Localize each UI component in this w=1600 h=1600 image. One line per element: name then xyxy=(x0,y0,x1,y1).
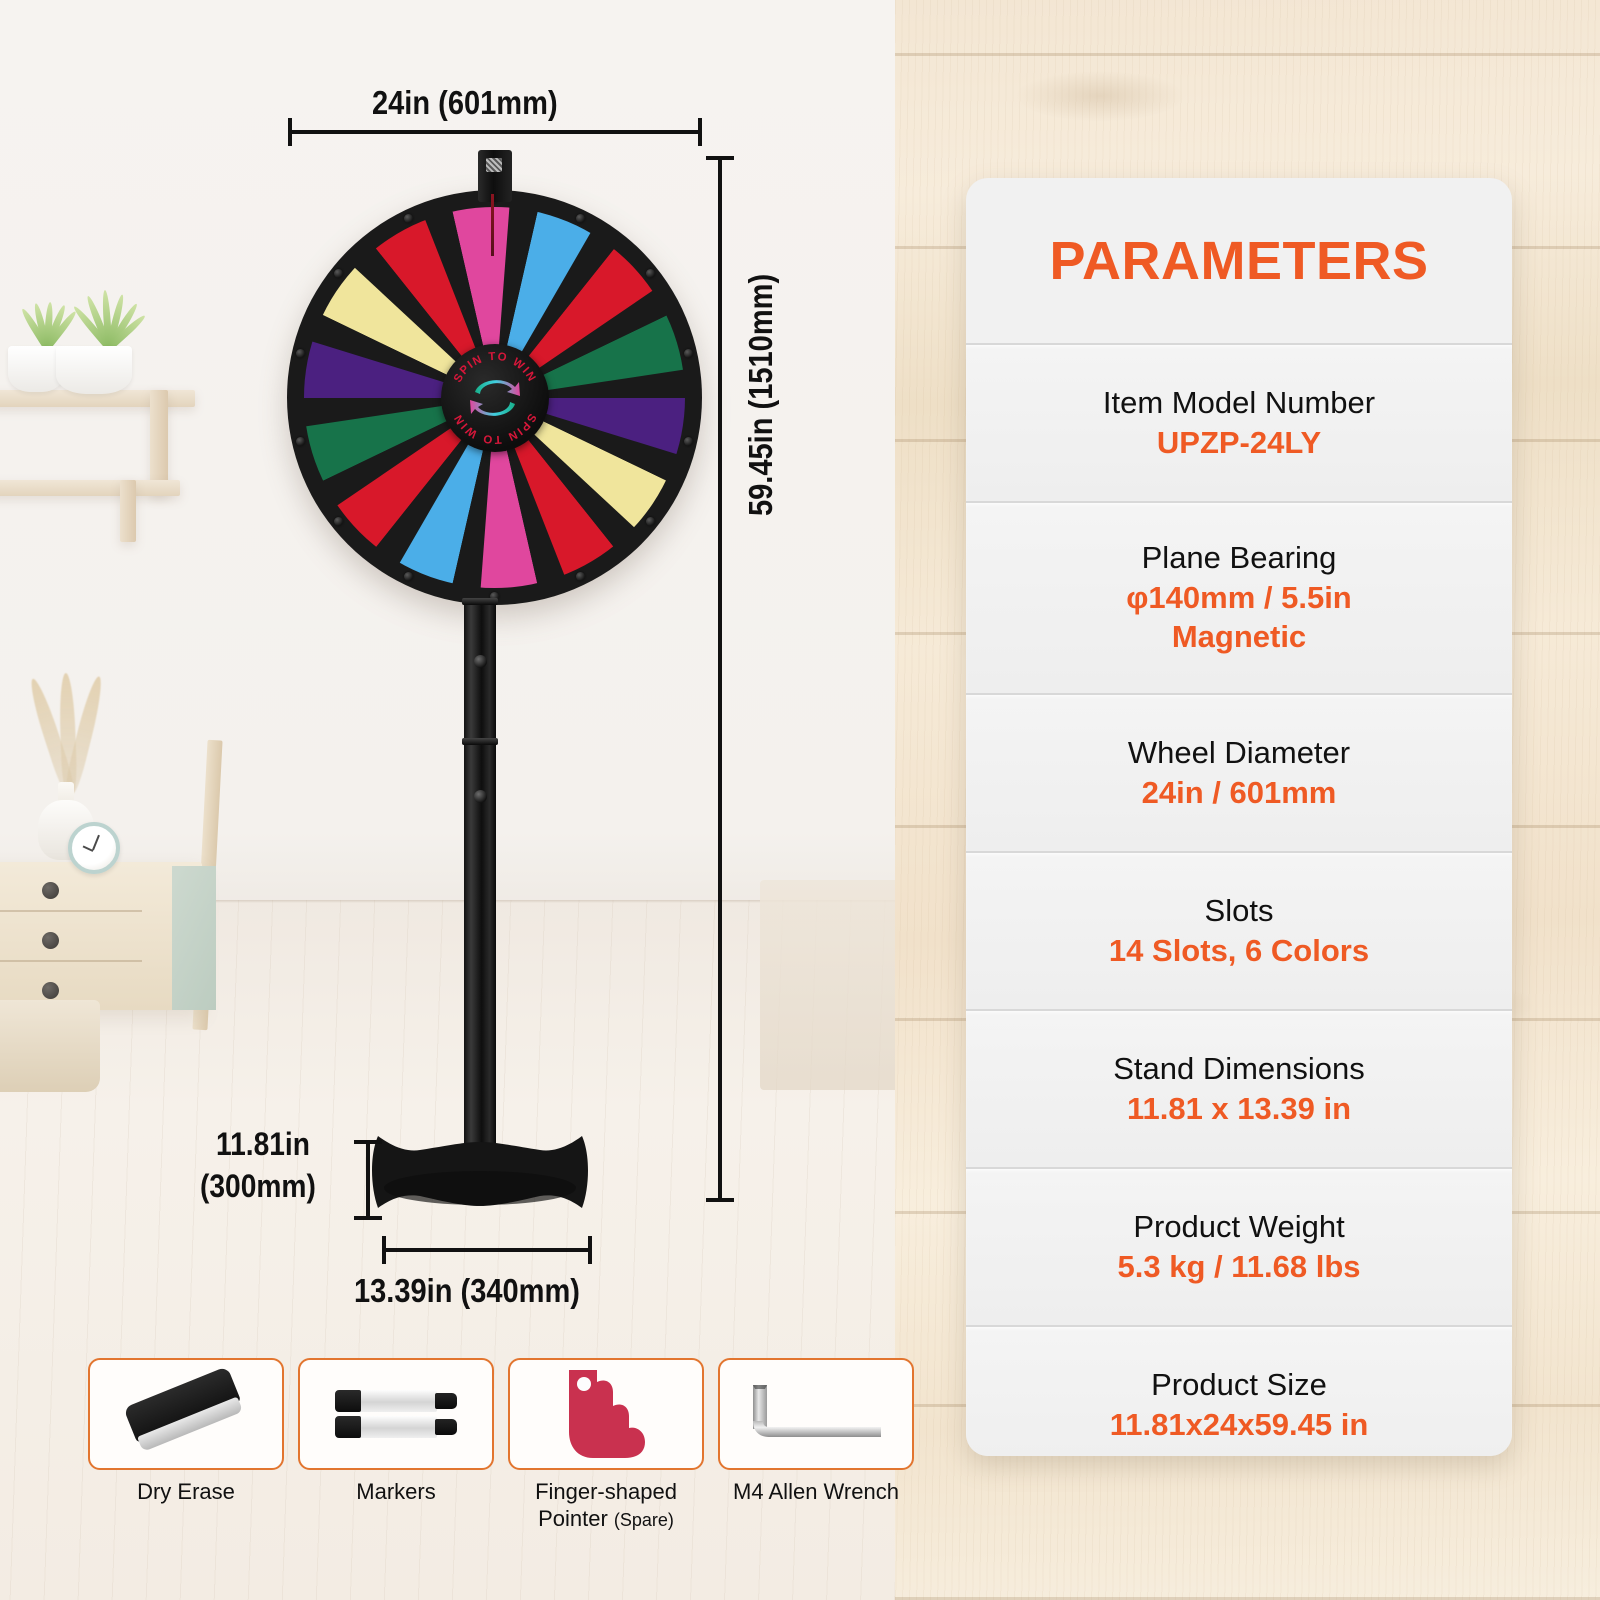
woven-basket xyxy=(0,1000,100,1092)
dimension-label-base-depth-mm: (300mm) xyxy=(200,1168,316,1205)
accessory-image-box xyxy=(508,1358,704,1470)
dimension-line-base-depth xyxy=(366,1142,370,1220)
hub-text-top: SPIN TO WIN xyxy=(451,350,537,384)
accessory-label: M4 Allen Wrench xyxy=(718,1479,914,1506)
pointer-screw-icon xyxy=(486,158,502,172)
param-row-wheel-diameter: Wheel Diameter 24in / 601mm xyxy=(966,693,1512,851)
svg-text:SPIN TO WIN: SPIN TO WIN xyxy=(451,411,537,445)
dimension-line-total-height xyxy=(718,158,722,1201)
plant-pot-right xyxy=(56,346,132,394)
pole-joint xyxy=(462,738,498,745)
param-value: 24in / 601mm xyxy=(1142,773,1337,813)
param-row-slots: Slots 14 Slots, 6 Colors xyxy=(966,851,1512,1009)
dimension-label-wheel-width: 24in (601mm) xyxy=(372,84,558,122)
dimension-cap-top xyxy=(354,1140,382,1144)
param-value: 14 Slots, 6 Colors xyxy=(1109,931,1369,971)
wheel-hub: SPIN TO WIN SPIN TO WIN xyxy=(441,344,549,452)
param-value: 11.81x24x59.45 in xyxy=(1110,1405,1369,1445)
pole-joint xyxy=(462,598,498,605)
allen-wrench-icon xyxy=(745,1377,887,1451)
rim-screw-icon xyxy=(684,349,693,358)
rim-screw-icon xyxy=(404,214,413,223)
spin-arrows-icon xyxy=(470,380,520,416)
rim-screw-icon xyxy=(646,269,655,278)
dimension-label-total-height: 59.45in (1510mm) xyxy=(742,274,780,516)
param-row-product-weight: Product Weight 5.3 kg / 11.68 lbs xyxy=(966,1167,1512,1325)
svg-text:SPIN TO WIN: SPIN TO WIN xyxy=(451,350,537,384)
dimension-cap-right xyxy=(588,1236,592,1264)
right-furniture xyxy=(760,880,895,1090)
wall-shelf-lower xyxy=(0,480,180,496)
dimension-line-base-width xyxy=(384,1248,592,1252)
accessory-label-line1: Finger-shaped xyxy=(535,1479,677,1504)
param-label: Plane Bearing xyxy=(1142,539,1337,578)
dimension-line-wheel-width xyxy=(290,130,702,134)
param-label: Product Weight xyxy=(1133,1208,1344,1247)
accessory-dry-erase: Dry Erase xyxy=(88,1358,284,1538)
dimension-label-base-width: 13.39in (340mm) xyxy=(354,1272,580,1310)
param-value: UPZP-24LY xyxy=(1157,423,1321,463)
accessory-label: Finger-shaped Pointer (Spare) xyxy=(508,1479,704,1533)
dimension-cap-bottom xyxy=(354,1216,382,1220)
accessory-label-suffix: (Spare) xyxy=(614,1510,674,1530)
dimension-cap-bottom xyxy=(706,1198,734,1202)
param-value: 5.3 kg / 11.68 lbs xyxy=(1118,1247,1361,1287)
plant-leaves-left xyxy=(24,300,70,348)
dimension-cap-right xyxy=(698,118,702,146)
param-value: φ140mm / 5.5in xyxy=(1126,578,1352,618)
rim-screw-icon xyxy=(404,572,413,581)
accessory-label: Markers xyxy=(298,1479,494,1506)
param-label: Product Size xyxy=(1151,1366,1327,1405)
param-value: 11.81 x 13.39 in xyxy=(1127,1089,1351,1129)
pole-adjust-knob xyxy=(474,655,487,668)
pampas-grass xyxy=(55,668,85,793)
accessory-markers: Markers xyxy=(298,1358,494,1538)
accessory-label-line2: Pointer xyxy=(538,1506,608,1531)
wheel-base-stand xyxy=(368,1128,592,1220)
panel-title: PARAMETERS xyxy=(966,178,1512,343)
rim-screw-icon xyxy=(646,517,655,526)
accessory-image-box xyxy=(298,1358,494,1470)
accessory-allen-wrench: M4 Allen Wrench xyxy=(718,1358,914,1538)
finger-pointer-icon xyxy=(563,1366,649,1462)
pole-adjust-knob xyxy=(474,790,487,803)
param-label: Slots xyxy=(1205,892,1274,931)
accessory-finger-pointer: Finger-shaped Pointer (Spare) xyxy=(508,1358,704,1538)
accessory-image-box xyxy=(718,1358,914,1470)
param-value-secondary: Magnetic xyxy=(1172,617,1306,657)
dimension-cap-left xyxy=(382,1236,386,1264)
eraser-icon xyxy=(123,1366,249,1462)
dimension-cap-top xyxy=(706,156,734,160)
hub-text-bottom: SPIN TO WIN xyxy=(451,411,537,445)
param-label: Wheel Diameter xyxy=(1128,734,1350,773)
telescoping-pole xyxy=(464,600,496,1160)
param-label: Item Model Number xyxy=(1103,384,1375,423)
dimension-cap-left xyxy=(288,118,292,146)
param-row-product-size: Product Size 11.81x24x59.45 in xyxy=(966,1325,1512,1456)
drawer-knob xyxy=(42,932,59,949)
wall-shelf-lower-bracket xyxy=(120,480,136,542)
rim-screw-icon xyxy=(296,349,305,358)
param-row-stand-dimensions: Stand Dimensions 11.81 x 13.39 in xyxy=(966,1009,1512,1167)
param-label: Stand Dimensions xyxy=(1113,1050,1365,1089)
plant-leaves-right xyxy=(78,292,140,348)
table-clock xyxy=(68,822,120,874)
drawer-knob xyxy=(42,882,59,899)
dimension-label-base-depth-in: 11.81in xyxy=(216,1126,310,1163)
markers-icon xyxy=(335,1386,457,1442)
prize-wheel: SPIN TO WIN SPIN TO WIN xyxy=(287,190,702,605)
dresser-side-panel xyxy=(172,866,216,1010)
drawer-knob xyxy=(42,982,59,999)
parameters-panel: PARAMETERS Item Model Number UPZP-24LY P… xyxy=(966,178,1512,1456)
rim-screw-icon xyxy=(576,214,585,223)
accessory-image-box xyxy=(88,1358,284,1470)
accessories-row: Dry Erase Markers Finger-shaped Pointer … xyxy=(88,1358,918,1538)
accessory-label: Dry Erase xyxy=(88,1479,284,1506)
param-row-item-model-number: Item Model Number UPZP-24LY xyxy=(966,343,1512,501)
param-row-plane-bearing: Plane Bearing φ140mm / 5.5in Magnetic xyxy=(966,501,1512,693)
